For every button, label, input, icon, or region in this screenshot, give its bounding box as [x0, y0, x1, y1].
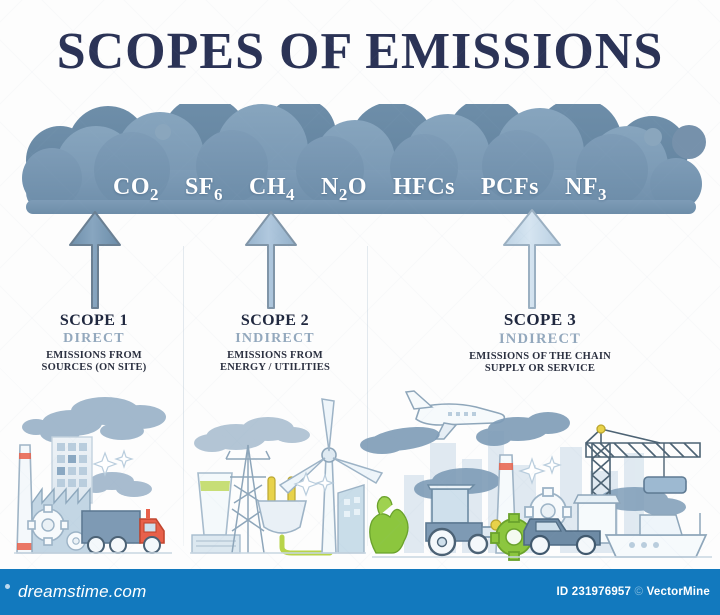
scope-3-label-group: SCOPE 3 INDIRECT EMISSIONS OF THE CHAIN …: [420, 310, 660, 376]
plug-prong-left: [268, 477, 275, 503]
warehouse-roof: [574, 495, 620, 503]
delivery-truck: [82, 509, 164, 553]
scope-2-arrow: [246, 212, 296, 308]
cloud-detached-puff-small: [644, 128, 662, 146]
sparkle-icon-group: [94, 451, 132, 475]
scope-3-kind: INDIRECT: [420, 331, 660, 348]
dreamstime-logo-text: dreamstime.com: [18, 582, 146, 601]
smoke-cloud-secondary: [84, 472, 152, 497]
scope-3-name: SCOPE 3: [420, 310, 660, 330]
scope-2-desc-line1: EMISSIONS FROM: [195, 350, 355, 362]
cloud-puff-accent: [155, 124, 171, 140]
scope-3-arrow: [504, 210, 560, 308]
scope-1-arrow: [70, 212, 120, 308]
infographic-canvas: SCOPES OF EMISSIONS: [0, 0, 720, 615]
scope-1-desc-line1: EMISSIONS FROM: [14, 350, 174, 362]
ship-superstructure: [640, 515, 682, 535]
scope-arrows: [0, 200, 720, 320]
cooling-tower-band: [200, 481, 230, 491]
scope-illustrations: [0, 385, 720, 565]
contrail-smoke: [360, 423, 441, 455]
steam-cloud: [194, 417, 310, 452]
scope-3-desc-line2: SUPPLY OR SERVICE: [420, 363, 660, 375]
truck-wheels: [88, 537, 160, 553]
scope-2-kind: INDIRECT: [195, 331, 355, 347]
scope3-stack-band: [499, 463, 513, 470]
scope-1-label-group: SCOPE 1 DIRECT EMISSIONS FROM SOURCES (O…: [14, 312, 174, 375]
truck-window: [144, 523, 156, 532]
smokestack-band-bottom: [17, 543, 33, 550]
utility-building: [338, 485, 364, 553]
plug-body: [258, 501, 306, 533]
tractor-roof: [428, 485, 474, 489]
crane-pulley: [597, 425, 605, 433]
scope-2-name: SCOPE 2: [195, 312, 355, 330]
scope-1-kind: DIRECT: [14, 331, 174, 347]
turbine-tower: [322, 455, 336, 553]
cloud-detached-puff-large: [672, 125, 706, 159]
scope-3-desc-line1: EMISSIONS OF THE CHAIN: [420, 351, 660, 363]
scope-2-illustration: [190, 399, 382, 553]
truck-exhaust: [146, 509, 150, 519]
smoke-cloud: [22, 397, 166, 443]
image-credit: ID 231976957 © VectorMine: [556, 586, 710, 598]
footer-bar: dreamstime.com ID 231976957 © VectorMine: [0, 569, 720, 615]
page-title: SCOPES OF EMISSIONS: [0, 22, 720, 81]
crane-load: [644, 477, 686, 493]
image-id: ID 231976957: [556, 586, 631, 598]
scope-3-illustration: [360, 391, 712, 560]
tractor-cabin: [432, 489, 468, 523]
scope-1-desc-line2: SOURCES (ON SITE): [14, 362, 174, 374]
cargo-ship: [606, 513, 706, 557]
scope-1-illustration: [14, 397, 172, 553]
copyright-icon: ©: [635, 586, 644, 598]
smokestack: [17, 445, 33, 553]
scope-2-desc-line2: ENERGY / UTILITIES: [195, 362, 355, 374]
dreamstime-logo[interactable]: dreamstime.com: [18, 582, 146, 602]
smokestack-band-top: [19, 453, 31, 459]
pickup-window: [536, 522, 561, 531]
tractor-wheel-hub: [438, 538, 447, 547]
foliage-bush: [370, 497, 408, 553]
electric-plug-icon: [258, 477, 330, 553]
ship-portholes: [629, 542, 659, 548]
logo-dot-icon: [5, 584, 10, 589]
scope-1-name: SCOPE 1: [14, 312, 174, 330]
scope-2-label-group: SCOPE 2 INDIRECT EMISSIONS FROM ENERGY /…: [195, 312, 355, 375]
author-name: VectorMine: [647, 586, 710, 598]
airplane-tailfin: [406, 391, 432, 409]
